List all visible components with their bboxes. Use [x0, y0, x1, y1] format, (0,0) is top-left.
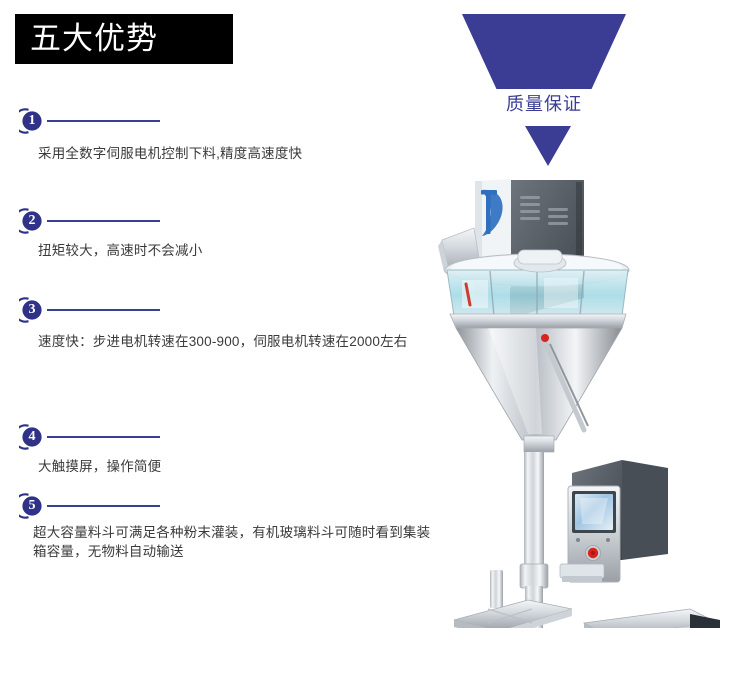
feature-marker-row-3: 3	[0, 297, 430, 327]
feature-item-2: 2 扭矩较大，高速时不会减小	[0, 208, 430, 238]
feature-item-4: 4 大触摸屏，操作简便	[0, 424, 430, 454]
feature-text-5: 超大容量料斗可满足各种粉末灌装，有机玻璃料斗可随时看到集装箱容量，无物料自动输送	[33, 523, 431, 561]
number-badge-label-3: 3	[19, 297, 45, 323]
auger-cone-part	[456, 328, 622, 452]
support-column-part	[490, 452, 548, 628]
feature-rule-1	[47, 120, 160, 122]
feature-marker-row-5: 5	[0, 493, 430, 523]
arrow-label: 质量保证	[462, 92, 626, 116]
number-badge-icon-4: 4	[19, 424, 45, 450]
feature-list: 1 采用全数字伺服电机控制下料,精度高速度快 2 扭矩较大，高速时不会减小	[0, 0, 440, 677]
feature-item-3: 3 速度快：步进电机转速在300-900，伺服电机转速在2000左右	[0, 297, 430, 327]
feature-text-4: 大触摸屏，操作简便	[38, 457, 428, 476]
feature-rule-5	[47, 505, 160, 507]
feature-rule-3	[47, 309, 160, 311]
feature-marker-row-1: 1	[0, 108, 430, 138]
page-root: 五大优势 1 采用全数字伺服电机控制下料,精度高速度快	[0, 0, 750, 677]
feature-item-5: 5 超大容量料斗可满足各种粉末灌装，有机玻璃料斗可随时看到集装箱容量，无物料自动…	[0, 493, 430, 523]
feature-marker-row-4: 4	[0, 424, 430, 454]
number-badge-label-4: 4	[19, 424, 45, 450]
number-badge-icon-5: 5	[19, 493, 45, 519]
feature-text-2: 扭矩较大，高速时不会减小	[38, 241, 428, 260]
touchscreen-panel-part	[560, 460, 668, 582]
digital-scale-part	[572, 609, 720, 628]
acrylic-hopper-part	[445, 250, 629, 328]
number-badge-icon-1: 1	[19, 108, 45, 134]
number-badge-icon-3: 3	[19, 297, 45, 323]
number-badge-icon-2: 2	[19, 208, 45, 234]
feature-text-3: 速度快：步进电机转速在300-900，伺服电机转速在2000左右	[38, 332, 430, 351]
feature-marker-row-2: 2	[0, 208, 430, 238]
number-badge-label-5: 5	[19, 493, 45, 519]
feature-item-1: 1 采用全数字伺服电机控制下料,精度高速度快	[0, 108, 430, 138]
product-photo-filling-machine	[432, 168, 750, 628]
feature-rule-4	[47, 436, 160, 438]
arrow-down-top-icon	[462, 14, 626, 89]
work-platform-part	[454, 600, 572, 628]
arrow-down-bottom-icon	[525, 126, 571, 166]
feature-text-1: 采用全数字伺服电机控制下料,精度高速度快	[38, 144, 428, 163]
number-badge-label-1: 1	[19, 108, 45, 134]
feature-rule-2	[47, 220, 160, 222]
number-badge-label-2: 2	[19, 208, 45, 234]
